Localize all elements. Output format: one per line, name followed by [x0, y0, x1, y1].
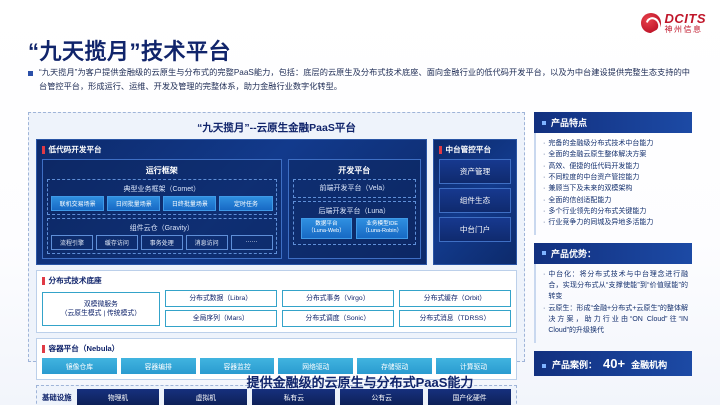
control-platform-label: 中台管控平台 [446, 144, 492, 155]
square-bullet-icon [28, 71, 33, 76]
component-repo-group: 组件云仓（Gravity） 流程引擎 缓存访问 事务处理 消息访问 …… [47, 218, 277, 254]
square-bullet-icon [542, 121, 546, 125]
product-advantages-card: 产品优势： ·中台化：将分布式技术与中台理念进行融合，实现分布式从“支撑使能”到… [534, 243, 692, 343]
control-platform-panel: 中台管控平台 资产管理 组件生态 中台门户 [433, 139, 517, 265]
development-platform-title: 开发平台 [293, 163, 416, 179]
runtime-framework-title: 运行框架 [47, 163, 277, 179]
low-code-platform-header: 低代码开发平台 [42, 144, 421, 155]
chip-luna-web-line1: 数据平台 [315, 221, 337, 227]
product-case-number: 40+ [603, 356, 625, 371]
product-case-label: 产品案例： [552, 358, 597, 371]
list-item: ·行业竞争力的同城及异地多活能力 [543, 217, 688, 228]
tech-base-col-1: 双模微服务 （云原生模式 | 传统模式） [42, 290, 160, 327]
tech-base-col-4: 分布式缓存（Orbit） 分布式消息（TDRSS） [399, 290, 511, 327]
logo-text: DCITS 神州信息 [665, 12, 707, 34]
backend-platform-label: 后端开发平台（Luna） [297, 204, 412, 218]
product-features-card: 产品特点 ·完备的金融级分布式技术中台能力 ·全面的金融云原生整体解决方案 ·高… [534, 112, 692, 235]
dot-icon: · [543, 149, 545, 160]
low-code-platform-panel: 低代码开发平台 运行框架 典型业务框架（Comet） 联机交易场景 日间批量场景… [36, 139, 427, 265]
logo-swirl-icon [641, 13, 661, 33]
chip-luna-robin-line1: 业务模型IDE [366, 221, 398, 227]
product-features-body: ·完备的金融级分布式技术中台能力 ·全面的金融云原生整体解决方案 ·高效、便捷的… [534, 133, 692, 235]
tech-item-dual-mode-microservice[interactable]: 双模微服务 （云原生模式 | 传统模式） [42, 292, 160, 326]
container-platform-label: 容器平台（Nebula） [49, 343, 120, 354]
dot-icon: · [543, 303, 545, 337]
square-bullet-icon [542, 251, 546, 255]
business-framework-title: 典型业务框架（Comet） [51, 182, 273, 196]
dot-icon: · [543, 183, 545, 194]
side-column: 产品特点 ·完备的金融级分布式技术中台能力 ·全面的金融云原生整体解决方案 ·高… [534, 112, 692, 376]
tech-item-tdrss[interactable]: 分布式消息（TDRSS） [399, 310, 511, 327]
list-item: ·多个行业领先的分布式关键能力 [543, 206, 688, 217]
control-item-asset-management[interactable]: 资产管理 [439, 159, 511, 184]
dot-icon: · [543, 172, 545, 183]
dot-icon: · [543, 161, 545, 172]
product-advantages-body: ·中台化：将分布式技术与中台理念进行融合，实现分布式从“支撑使能”到“价值赋能”… [534, 264, 692, 343]
chip-cache-access[interactable]: 缓存访问 [96, 235, 138, 250]
component-repo-title: 组件云仓（Gravity） [51, 221, 273, 235]
brand-logo: DCITS 神州信息 [641, 12, 707, 34]
footer-tagline: 提供金融级的云原生与分布式PaaS能力 [0, 372, 720, 391]
chip-scheduled-task[interactable]: 定时任务 [219, 196, 272, 211]
control-platform-header: 中台管控平台 [439, 144, 511, 155]
square-bullet-icon [542, 364, 546, 368]
tech-item-dual-mode-line1: 双模微服务 [84, 301, 118, 308]
product-advantages-title: 产品优势： [551, 247, 596, 260]
feature-text: 高效、便捷的低代码开发能力 [548, 161, 639, 172]
control-item-portal[interactable]: 中台门户 [439, 217, 511, 242]
dot-icon: · [543, 195, 545, 206]
tech-item-sonic[interactable]: 分布式调度（Sonic） [282, 310, 394, 327]
chip-transaction-processing[interactable]: 事务处理 [141, 235, 183, 250]
backend-platform-chips: 数据平台 （Luna-Web） 业务模型IDE （Luna-Robin） [297, 218, 412, 241]
tech-base-grid: 双模微服务 （云原生模式 | 传统模式） 分布式数据（Libra） 全局序列（M… [42, 290, 511, 327]
tech-item-mars[interactable]: 全局序列（Mars） [165, 310, 277, 327]
dot-icon: · [543, 217, 545, 228]
tech-item-libra[interactable]: 分布式数据（Libra） [165, 290, 277, 307]
feature-text: 兼顾当下及未来的双模架构 [548, 183, 632, 194]
list-item: ·全面的金融云原生整体解决方案 [543, 149, 688, 160]
list-item: ·中台化：将分布式技术与中台理念进行融合，实现分布式从“支撑使能”到“价值赋能”… [543, 269, 688, 303]
chip-message-access[interactable]: 消息访问 [186, 235, 228, 250]
development-platform-box: 开发平台 前端开发平台（Vela） 后端开发平台（Luna） 数据平台 （Lun… [288, 159, 421, 259]
list-item: ·兼顾当下及未来的双模架构 [543, 183, 688, 194]
list-item: ·高效、便捷的低代码开发能力 [543, 161, 688, 172]
dot-icon: · [543, 269, 545, 303]
chip-luna-robin-line2: （Luna-Robin） [362, 228, 402, 234]
container-platform-header: 容器平台（Nebula） [42, 343, 511, 354]
list-item: ·全面的信创适配能力 [543, 195, 688, 206]
advantage-text: 中台化：将分布式技术与中台理念进行融合，实现分布式从“支撑使能”到“价值赋能”的… [548, 269, 688, 303]
tech-base-col-2: 分布式数据（Libra） 全局序列（Mars） [165, 290, 277, 327]
product-advantages-header: 产品优势： [534, 243, 692, 264]
frontend-platform-label: 前端开发平台（Vela） [297, 182, 412, 194]
backend-platform-group: 后端开发平台（Luna） 数据平台 （Luna-Web） 业务模型IDE （Lu… [293, 201, 416, 245]
product-case-suffix: 金融机构 [631, 358, 667, 371]
business-framework-group: 典型业务框架（Comet） 联机交易场景 日间批量场景 日终批量场景 定时任务 [47, 179, 277, 215]
red-tick-icon [42, 146, 45, 154]
tech-item-virgo[interactable]: 分布式事务（Virgo） [282, 290, 394, 307]
chip-luna-web-line2: （Luna-Web） [308, 228, 345, 234]
slide: DCITS 神州信息 “九天揽月”技术平台 “九天揽月”为客户提供金融级的云原生… [0, 0, 720, 405]
tech-base-col-3: 分布式事务（Virgo） 分布式调度（Sonic） [282, 290, 394, 327]
runtime-framework-box: 运行框架 典型业务框架（Comet） 联机交易场景 日间批量场景 日终批量场景 … [42, 159, 282, 259]
product-features-title: 产品特点 [551, 116, 587, 129]
chip-luna-robin[interactable]: 业务模型IDE （Luna-Robin） [356, 218, 408, 239]
tech-item-dual-mode-line2: （云原生模式 | 传统模式） [61, 310, 141, 317]
chip-online-transaction[interactable]: 联机交易场景 [51, 196, 104, 211]
tech-base-label: 分布式技术底座 [49, 275, 102, 286]
red-tick-icon [439, 146, 442, 154]
feature-text: 全面的信创适配能力 [548, 195, 611, 206]
tech-item-orbit[interactable]: 分布式缓存（Orbit） [399, 290, 511, 307]
chip-more[interactable]: …… [231, 235, 273, 250]
feature-text: 全面的金融云原生整体解决方案 [548, 149, 646, 160]
frontend-platform-group: 前端开发平台（Vela） [293, 179, 416, 198]
feature-text: 不同粒度的中台资产管控能力 [548, 172, 639, 183]
advantage-text: 云原生：形成“金融+分布式+云原生”的整体解决方案，助力行业由“ON Cloud… [548, 303, 688, 337]
list-item: ·完备的金融级分布式技术中台能力 [543, 138, 688, 149]
feature-text: 完备的金融级分布式技术中台能力 [548, 138, 653, 149]
chip-intraday-batch[interactable]: 日间批量场景 [107, 196, 160, 211]
list-item: ·云原生：形成“金融+分布式+云原生”的整体解决方案，助力行业由“ON Clou… [543, 303, 688, 337]
intro-text: “九天揽月”为客户提供金融级的云原生与分布式的完整PaaS能力，包括：底层的云原… [39, 66, 690, 93]
low-code-platform-label: 低代码开发平台 [49, 144, 102, 155]
feature-text: 行业竞争力的同城及异地多活能力 [548, 217, 653, 228]
logo-en: DCITS [665, 12, 707, 26]
dot-icon: · [543, 138, 545, 149]
control-item-component-ecosystem[interactable]: 组件生态 [439, 188, 511, 213]
component-repo-chips: 流程引擎 缓存访问 事务处理 消息访问 …… [51, 235, 273, 250]
red-tick-icon [42, 277, 45, 285]
logo-cn: 神州信息 [665, 26, 707, 34]
feature-text: 多个行业领先的分布式关键能力 [548, 206, 646, 217]
chip-luna-web[interactable]: 数据平台 （Luna-Web） [301, 218, 353, 239]
tech-base-section: 分布式技术底座 双模微服务 （云原生模式 | 传统模式） 分布式数据（Libra… [36, 270, 517, 333]
red-tick-icon [42, 345, 45, 353]
chip-process-engine[interactable]: 流程引擎 [51, 235, 93, 250]
business-framework-chips: 联机交易场景 日间批量场景 日终批量场景 定时任务 [51, 196, 273, 211]
diagram-title: “九天揽月”--云原生金融PaaS平台 [36, 118, 517, 139]
list-item: ·不同粒度的中台资产管控能力 [543, 172, 688, 183]
architecture-diagram: “九天揽月”--云原生金融PaaS平台 低代码开发平台 运行框架 典型业务框架（… [28, 112, 525, 362]
diagram-top-row: 低代码开发平台 运行框架 典型业务框架（Comet） 联机交易场景 日间批量场景… [36, 139, 517, 265]
dot-icon: · [543, 206, 545, 217]
chip-eod-batch[interactable]: 日终批量场景 [163, 196, 216, 211]
intro-paragraph: “九天揽月”为客户提供金融级的云原生与分布式的完整PaaS能力，包括：底层的云原… [28, 66, 690, 93]
tech-base-header: 分布式技术底座 [42, 275, 511, 286]
product-features-header: 产品特点 [534, 112, 692, 133]
page-title: “九天揽月”技术平台 [28, 34, 231, 66]
